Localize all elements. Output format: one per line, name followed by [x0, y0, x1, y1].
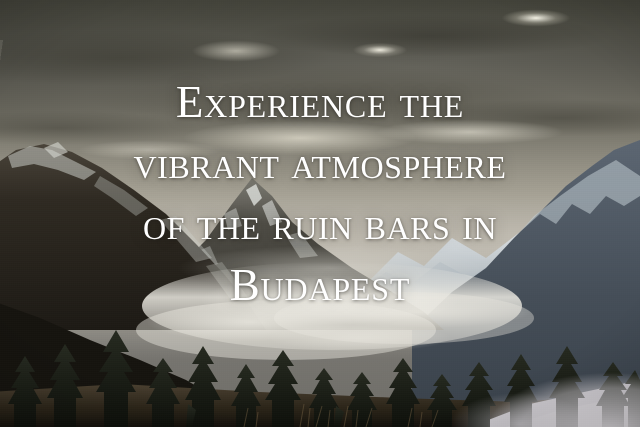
caption-line-1: Experience the: [0, 80, 640, 125]
caption-line-2: vibrant atmosphere: [0, 141, 640, 186]
caption-line-3: of the ruin bars in: [0, 202, 640, 247]
caption-overlay: Experience the vibrant atmosphere of the…: [0, 0, 640, 427]
image-canvas: Experience the vibrant atmosphere of the…: [0, 0, 640, 427]
caption-line-4: Budapest: [0, 263, 640, 308]
